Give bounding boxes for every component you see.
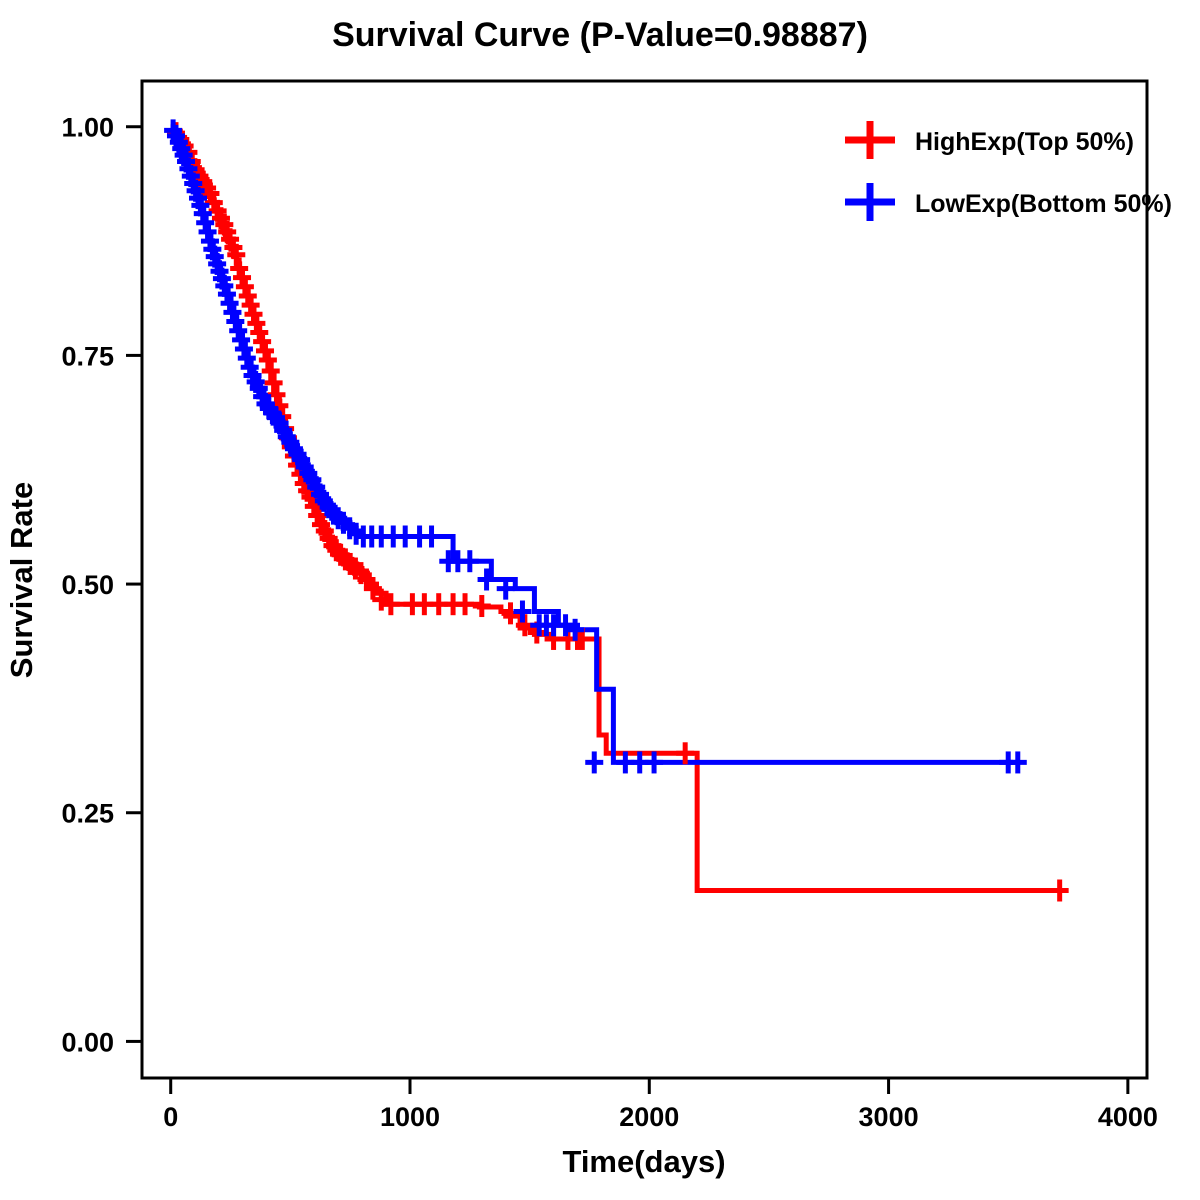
y-axis-ticks: 0.000.250.500.751.00: [61, 113, 142, 1058]
legend-label: HighExp(Top 50%): [915, 128, 1134, 156]
x-tick-label: 4000: [1098, 1102, 1158, 1132]
censor-marks-layer: [164, 119, 1069, 901]
y-tick-label: 0.00: [61, 1027, 114, 1057]
y-tick-label: 0.50: [61, 570, 114, 600]
x-tick-label: 1000: [380, 1102, 440, 1132]
survival-chart-page: Survival Curve (P-Value=0.98887) 0100020…: [0, 0, 1200, 1200]
x-axis-ticks: 01000200030004000: [163, 1078, 1158, 1132]
curves-layer: [171, 127, 1061, 891]
y-tick-label: 0.75: [61, 341, 114, 371]
legend: HighExp(Top 50%)LowExp(Bottom 50%): [845, 121, 1172, 221]
y-axis-title: Survival Rate: [4, 482, 39, 678]
legend-label: LowExp(Bottom 50%): [915, 190, 1172, 218]
x-tick-label: 3000: [859, 1102, 919, 1132]
survival-plot: 01000200030004000 0.000.250.500.751.00 T…: [0, 0, 1200, 1200]
y-tick-label: 1.00: [61, 113, 114, 143]
survival-step-curve: [171, 127, 1061, 891]
y-tick-label: 0.25: [61, 799, 114, 829]
x-tick-label: 2000: [619, 1102, 679, 1132]
x-axis-title: Time(days): [562, 1144, 725, 1179]
plot-frame: [142, 81, 1147, 1078]
x-tick-label: 0: [163, 1102, 178, 1132]
